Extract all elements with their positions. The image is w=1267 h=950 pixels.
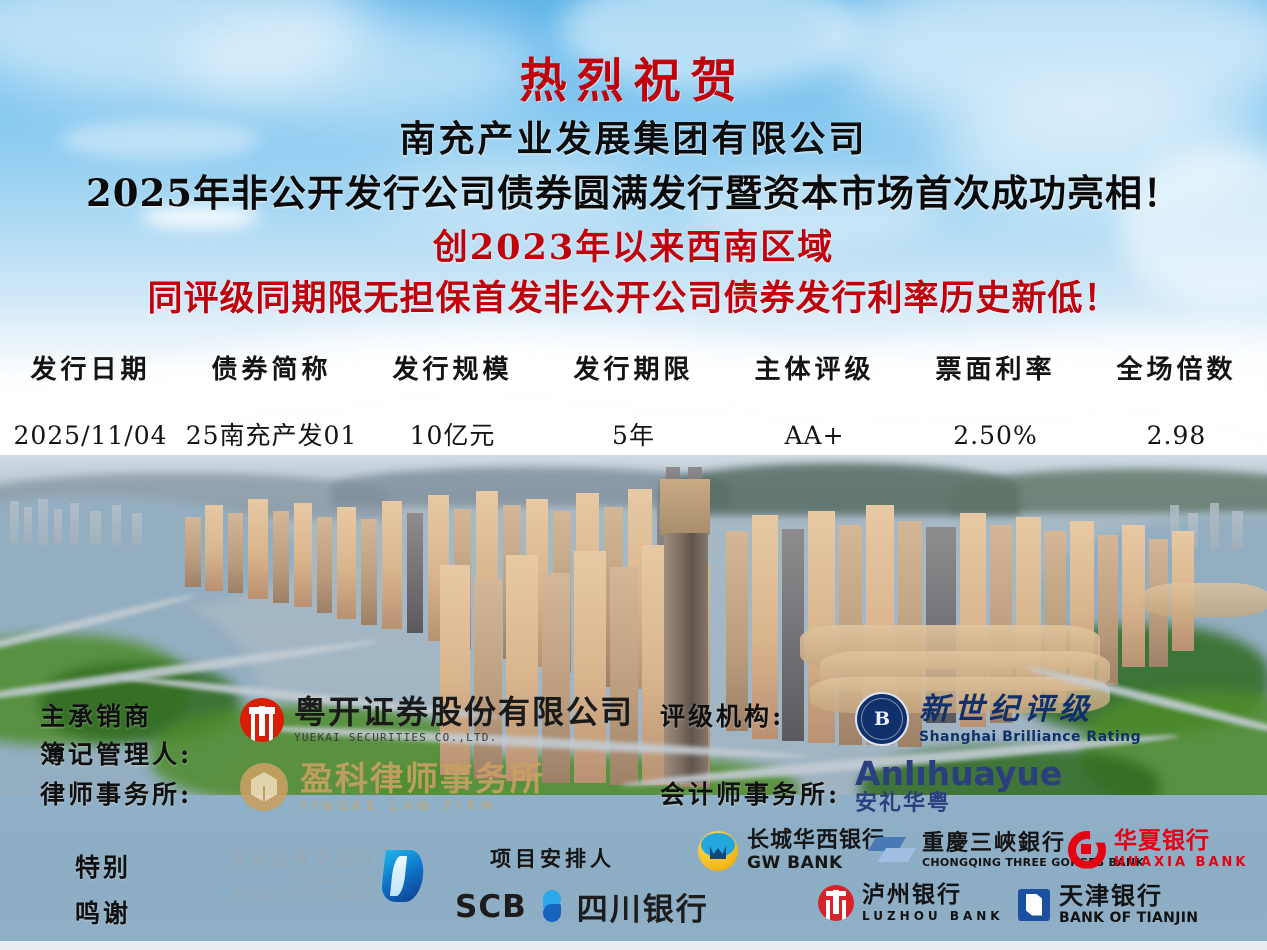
gw-bank-logo: 长城华西银行 GW BANK bbox=[698, 830, 885, 872]
tianjin-mark-icon bbox=[1018, 889, 1050, 921]
td-issue-date: 2025/11/04 bbox=[0, 416, 181, 456]
arranger-label: 项目安排人 bbox=[490, 843, 615, 873]
th-issue-date: 发行日期 bbox=[0, 348, 181, 392]
huaxia-mark-icon bbox=[1068, 831, 1106, 869]
td-bond-name: 25南充产发01 bbox=[181, 416, 362, 456]
td-coupon-rate: 2.50% bbox=[905, 416, 1086, 456]
headline-line-1: 2025年非公开发行公司债券圆满发行暨资本市场首次成功亮相！ bbox=[0, 163, 1267, 217]
huaxia-bank-logo: 华夏银行 HUAXIA BANK bbox=[1068, 830, 1248, 869]
th-issue-size: 发行规模 bbox=[362, 348, 543, 392]
th-coupon-rate: 票面利率 bbox=[905, 348, 1086, 392]
headline-line-3: 同评级同期限无担保首发非公开公司债券发行利率历史新低！ bbox=[0, 270, 1267, 321]
table-header-row: 发行日期 债券简称 发行规模 发行期限 主体评级 票面利率 全场倍数 bbox=[0, 348, 1267, 392]
brilliance-name-cn: 新世纪评级 bbox=[919, 695, 1141, 725]
sichuan-bank-abbr: SCB bbox=[455, 889, 527, 925]
szse-wing-icon bbox=[380, 850, 425, 902]
underwriter-label-line1: 主承销商 bbox=[40, 697, 152, 733]
anlihuayue-name-cn: 安礼华粤 bbox=[855, 793, 1062, 815]
anlihuayue-accounting-logo: Anlıhuayue 安礼华粤 bbox=[855, 757, 1062, 815]
td-issuer-rating: AA+ bbox=[724, 416, 905, 456]
th-subscription-multiple: 全场倍数 bbox=[1086, 348, 1267, 392]
congrats-title: 热烈祝贺 bbox=[0, 42, 1267, 111]
shanghai-brilliance-rating-logo: B 新世纪评级 Shanghai Brilliance Rating bbox=[855, 692, 1141, 746]
szse-name-en-2: STOCK EXCHANGE bbox=[233, 889, 376, 902]
celebration-poster: 热烈祝贺 南充产业发展集团有限公司 2025年非公开发行公司债券圆满发行暨资本市… bbox=[0, 0, 1267, 950]
headline-line-2: 创2023年以来西南区域 bbox=[0, 219, 1267, 270]
yuekai-name-cn: 粤开证券股份有限公司 bbox=[294, 696, 634, 728]
yingke-law-firm-logo: 盈科律师事务所 YINGKE LAW FIRM bbox=[240, 762, 545, 812]
table-row: 2025/11/04 25南充产发01 10亿元 5年 AA+ 2.50% 2.… bbox=[0, 416, 1267, 456]
huaxia-name-en: HUAXIA BANK bbox=[1114, 856, 1248, 869]
luzhou-mark-icon bbox=[818, 885, 854, 921]
special-thanks-label-line1: 特别 bbox=[75, 848, 131, 884]
szse-name-en-1: SHENZHEN bbox=[290, 874, 375, 887]
yuekai-mark-icon bbox=[240, 698, 284, 742]
underwriter-label-line2: 簿记管理人: bbox=[40, 735, 192, 771]
bond-summary-table: 发行日期 债券简称 发行规模 发行期限 主体评级 票面利率 全场倍数 2025/… bbox=[0, 348, 1267, 456]
gw-bank-mark-icon bbox=[698, 831, 738, 871]
yingke-name-cn: 盈科律师事务所 bbox=[300, 762, 545, 795]
accounting-firm-label: 会计师事务所: bbox=[660, 775, 840, 811]
cqtg-mark-icon bbox=[872, 835, 914, 865]
tianjin-name-en: BANK OF TIANJIN bbox=[1059, 911, 1198, 925]
brilliance-name-en: Shanghai Brilliance Rating bbox=[919, 730, 1141, 744]
td-tenor: 5年 bbox=[543, 416, 724, 456]
tianjin-name-cn: 天津银行 bbox=[1059, 884, 1198, 908]
sichuan-bank-name-cn: 四川银行 bbox=[577, 884, 709, 929]
th-issuer-rating: 主体评级 bbox=[724, 348, 905, 392]
shenzhen-stock-exchange-logo: 深圳证券交易所 SHENZHEN STOCK EXCHANGE bbox=[228, 850, 423, 902]
law-firm-label: 律师事务所: bbox=[40, 775, 192, 811]
anlihuayue-name-en: Anlıhuayue bbox=[855, 757, 1062, 790]
yingke-cube-icon bbox=[240, 763, 288, 811]
bank-of-tianjin-logo: 天津银行 BANK OF TIANJIN bbox=[1018, 884, 1198, 925]
luzhou-name-cn: 泸州银行 bbox=[862, 884, 1004, 907]
th-bond-name: 债券简称 bbox=[181, 348, 362, 392]
yuekai-securities-logo: 粤开证券股份有限公司 YUEKAI SECURITIES CO.,LTD. bbox=[240, 696, 634, 743]
rating-agency-label: 评级机构: bbox=[660, 697, 784, 733]
td-issue-size: 10亿元 bbox=[362, 416, 543, 456]
yingke-name-en: YINGKE LAW FIRM bbox=[300, 800, 545, 812]
gw-bank-name-en: GW BANK bbox=[747, 855, 885, 872]
luzhou-bank-logo: 泸州银行 LUZHOU BANK bbox=[818, 884, 1004, 922]
special-thanks-label-line2: 鸣谢 bbox=[75, 894, 131, 930]
szse-name-cn: 深圳证券交易所 bbox=[228, 850, 375, 869]
luzhou-name-en: LUZHOU BANK bbox=[862, 910, 1004, 922]
sichuan-bank-mark-icon bbox=[535, 890, 569, 924]
brilliance-seal-icon: B bbox=[855, 692, 909, 746]
gw-bank-name-cn: 长城华西银行 bbox=[747, 830, 885, 852]
huaxia-name-cn: 华夏银行 bbox=[1114, 830, 1248, 853]
company-name: 南充产业发展集团有限公司 bbox=[0, 110, 1267, 162]
td-subscription-multiple: 2.98 bbox=[1086, 416, 1267, 456]
th-tenor: 发行期限 bbox=[543, 348, 724, 392]
bottom-edge-bar bbox=[0, 941, 1267, 950]
yuekai-name-en: YUEKAI SECURITIES CO.,LTD. bbox=[294, 732, 634, 743]
sichuan-bank-logo: SCB 四川银行 bbox=[455, 884, 709, 929]
